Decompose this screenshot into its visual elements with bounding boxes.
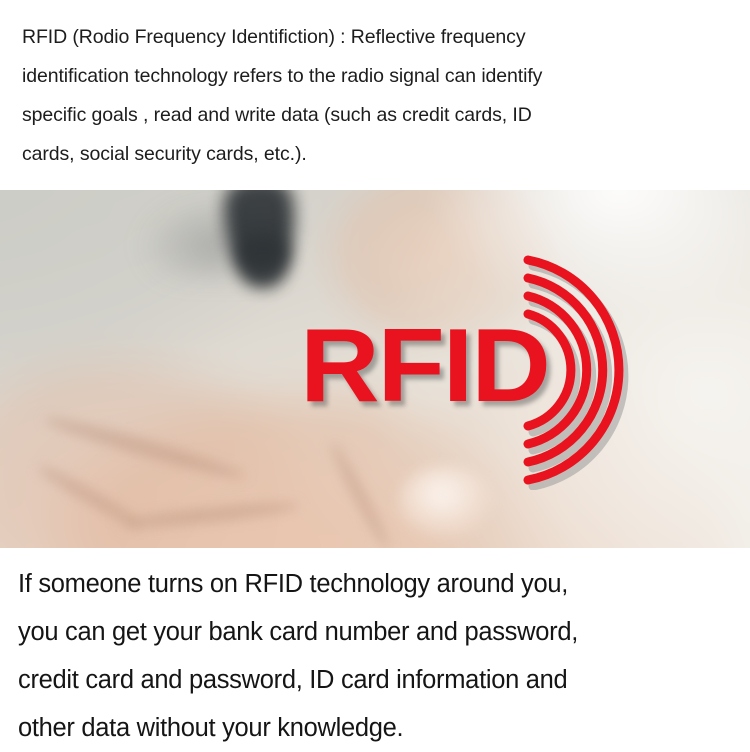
intro-text-block: RFID (Rodio Frequency Identifiction) : R… xyxy=(0,0,750,190)
rfid-hero-image: RFID xyxy=(0,190,750,548)
intro-line-3: specific goals , read and write data (su… xyxy=(22,96,730,135)
intro-line-1: RFID (Rodio Frequency Identifiction) : R… xyxy=(22,18,730,57)
warning-line-2: you can get your bank card number and pa… xyxy=(18,608,734,656)
warning-line-3: credit card and password, ID card inform… xyxy=(18,656,734,704)
warning-line-4: other data without your knowledge. xyxy=(18,704,734,752)
fingertip-highlight xyxy=(398,466,494,538)
warning-line-1: If someone turns on RFID technology arou… xyxy=(18,560,734,608)
intro-line-2: identification technology refers to the … xyxy=(22,57,730,96)
warning-text-block: If someone turns on RFID technology arou… xyxy=(0,548,750,750)
product-description-page: RFID (Rodio Frequency Identifiction) : R… xyxy=(0,0,750,750)
intro-line-4: cards, social security cards, etc.). xyxy=(22,135,730,174)
blurred-hand-photo xyxy=(0,190,750,548)
